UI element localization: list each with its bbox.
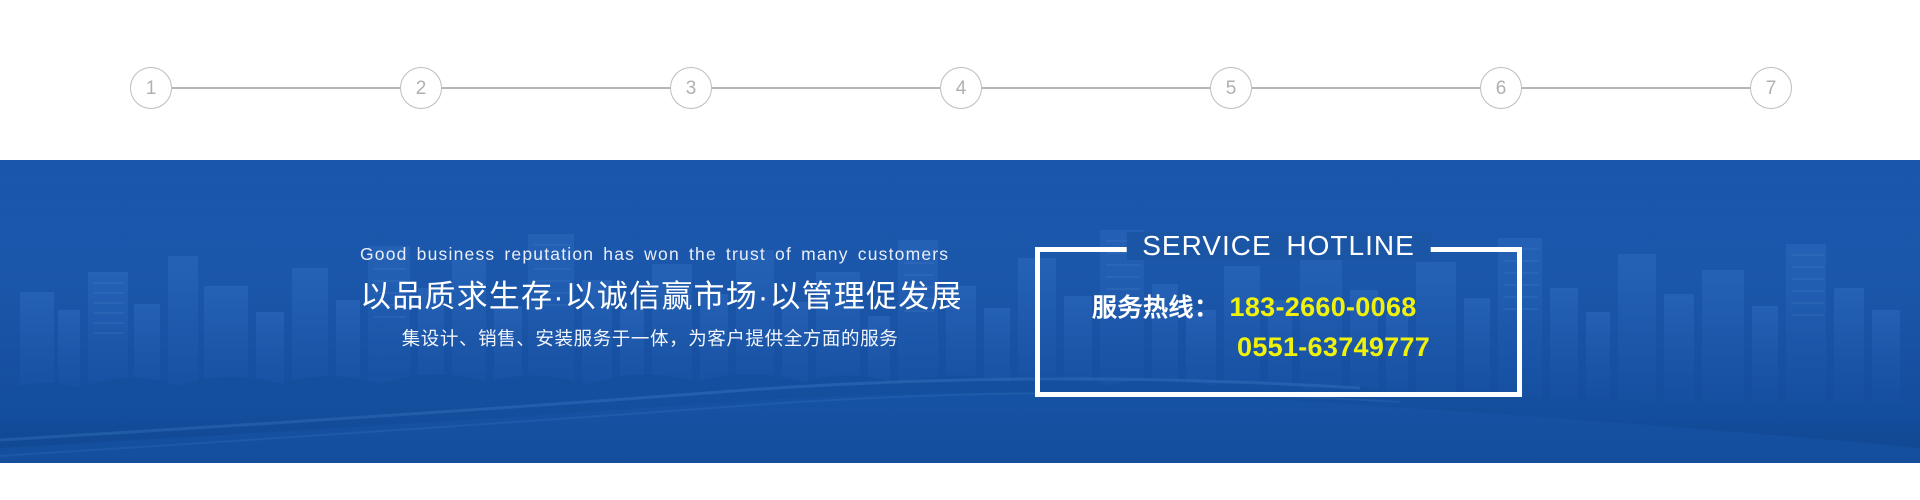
pagination-step-2[interactable]: 2 (400, 67, 442, 109)
pagination-bar: 1 2 3 4 5 6 7 (0, 0, 1920, 160)
hotline-secondary-number[interactable]: 0551-63749777 (1237, 334, 1430, 361)
pagination-step-1[interactable]: 1 (130, 67, 172, 109)
page-root: 1 2 3 4 5 6 7 (0, 0, 1920, 500)
hotline-row-primary: 服务热线： 183-2660-0068 (1040, 294, 1517, 321)
pagination-step-label: 1 (146, 79, 157, 98)
hotline-primary-number[interactable]: 183-2660-0068 (1230, 294, 1417, 321)
pagination-step-label: 7 (1766, 79, 1777, 98)
hotline-row-secondary: 0551-63749777 (1040, 334, 1517, 361)
pagination-connector (1252, 87, 1480, 89)
slogan-english-line: Good business reputation has won the tru… (360, 246, 940, 264)
pagination-step-label: 2 (416, 79, 427, 98)
pagination-step-label: 4 (956, 79, 967, 98)
pagination-connector (442, 87, 670, 89)
pagination-connector (712, 87, 940, 89)
hotline-number-list: 服务热线： 183-2660-0068 0551-63749777 (1040, 294, 1517, 361)
pagination-step-4[interactable]: 4 (940, 67, 982, 109)
pagination-step-label: 5 (1226, 79, 1237, 98)
slogan-headline: 以品质求生存·以诚信赢市场·以管理促发展 (360, 281, 940, 312)
pagination-step-label: 3 (686, 79, 697, 98)
hotline-label: 服务热线： (1092, 296, 1220, 321)
pagination-step-6[interactable]: 6 (1480, 67, 1522, 109)
slogan-block: Good business reputation has won the tru… (360, 246, 940, 348)
promo-banner: Good business reputation has won the tru… (0, 160, 1920, 463)
pagination-track: 1 2 3 4 5 6 7 (130, 66, 1792, 110)
pagination-step-3[interactable]: 3 (670, 67, 712, 109)
pagination-step-label: 6 (1496, 79, 1507, 98)
pagination-step-5[interactable]: 5 (1210, 67, 1252, 109)
service-hotline-title: SERVICE HOTLINE (1126, 232, 1431, 260)
pagination-connector (982, 87, 1210, 89)
pagination-step-7[interactable]: 7 (1750, 67, 1792, 109)
pagination-connector (1522, 87, 1750, 89)
pagination-connector (172, 87, 400, 89)
slogan-subline: 集设计、销售、安装服务于一体，为客户提供全方面的服务 (360, 330, 940, 349)
service-hotline-box: SERVICE HOTLINE 服务热线： 183-2660-0068 0551… (1035, 247, 1522, 397)
